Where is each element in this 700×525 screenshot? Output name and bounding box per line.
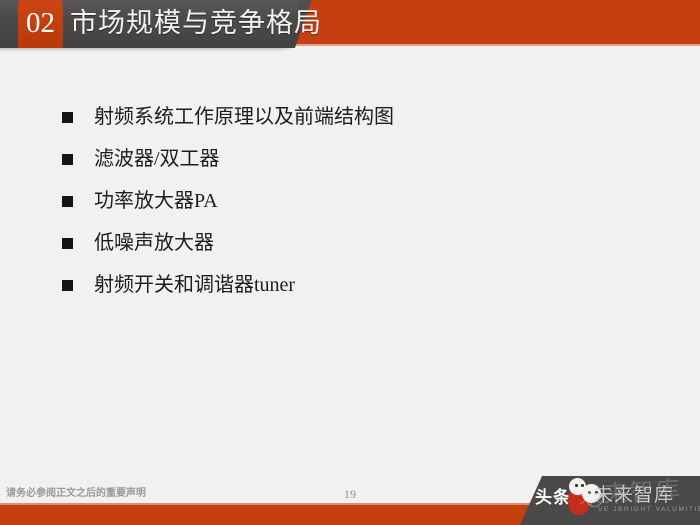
list-item-label: 射频开关和调谐器tuner: [94, 273, 295, 298]
section-number-label: 02: [18, 8, 63, 38]
list-item: 射频系统工作原理以及前端结构图: [62, 105, 622, 130]
square-bullet-icon: [62, 196, 73, 207]
list-item-label: 功率放大器PA: [94, 189, 218, 214]
square-bullet-icon: [62, 112, 73, 123]
watermark-eye-icon: [575, 484, 578, 487]
watermark-eye-icon: [588, 491, 591, 494]
bullet-list: 射频系统工作原理以及前端结构图 滤波器/双工器 功率放大器PA 低噪声放大器 射…: [62, 105, 622, 315]
list-item: 射频开关和调谐器tuner: [62, 273, 622, 298]
list-item-label: 滤波器/双工器: [94, 147, 220, 172]
list-item: 功率放大器PA: [62, 189, 622, 214]
square-bullet-icon: [62, 154, 73, 165]
slide-canvas: 02 市场规模与竞争格局 射频系统工作原理以及前端结构图 滤波器/双工器 功率放…: [0, 0, 700, 525]
list-item: 低噪声放大器: [62, 231, 622, 256]
square-bullet-icon: [62, 238, 73, 249]
list-item: 滤波器/双工器: [62, 147, 622, 172]
list-item-label: 射频系统工作原理以及前端结构图: [94, 105, 394, 130]
watermark-brand-label: 未来智库: [594, 485, 674, 507]
watermark-brand-subtitle: VE JBRIGHT VALUMITIES: [598, 506, 700, 514]
list-item-label: 低噪声放大器: [94, 231, 214, 256]
watermark-platform-label: 头条: [535, 488, 571, 508]
section-title: 市场规模与竞争格局: [70, 6, 322, 40]
watermark-eye-icon: [581, 484, 584, 487]
watermark-banner: 头条 未来智库 VE JBRIGHT VALUMITIES 未来智库: [520, 476, 700, 525]
square-bullet-icon: [62, 280, 73, 291]
